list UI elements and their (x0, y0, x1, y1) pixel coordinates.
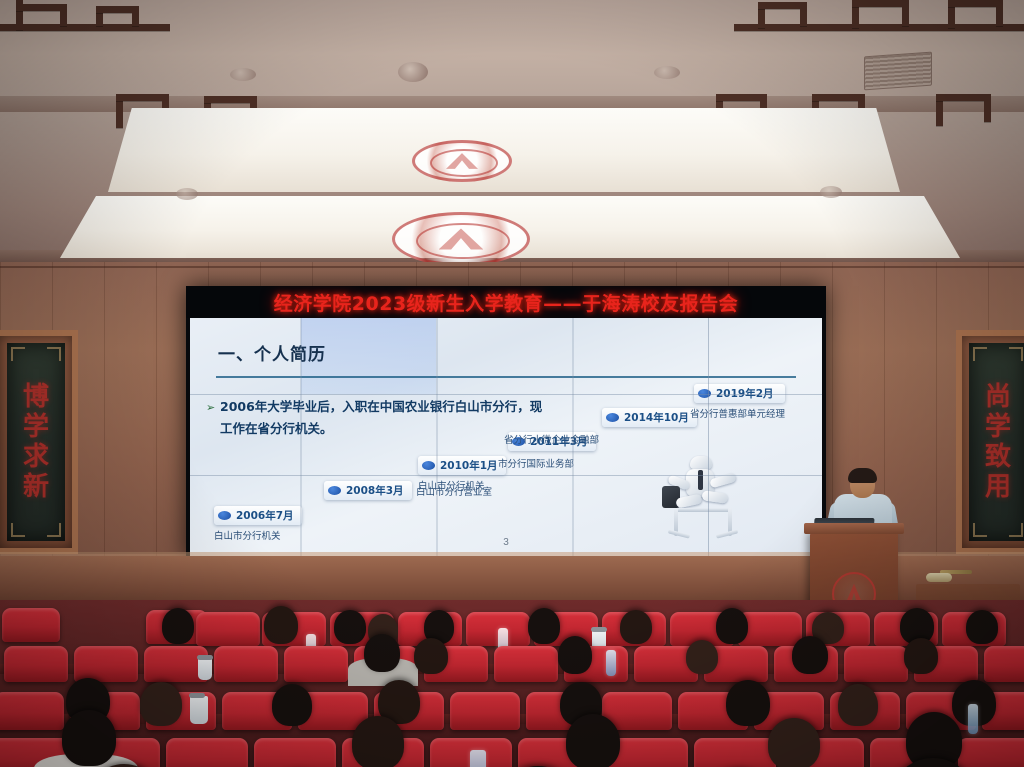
timeline-dot-icon (328, 486, 341, 495)
audience-head (528, 608, 560, 644)
audience-head (620, 610, 652, 644)
timeline-place: 省分行小微企业金融部 (504, 432, 599, 446)
slide-heading-rule (216, 376, 796, 378)
scroll-char: 学 (985, 414, 1011, 440)
led-video-wall[interactable]: 经济学院2023级新生入学教育——于海涛校友报告会 一、个人简历 ➢ 2006年… (186, 286, 826, 561)
businessman-hurdle-icon (660, 456, 746, 538)
timeline-dot-icon (218, 511, 231, 520)
timeline-dot-icon (698, 389, 711, 398)
ceiling-sprinkler (230, 68, 256, 81)
slide-bullet-text: ➢ 2006年大学毕业后，入职在中国农业银行白山市分行，现工作在省分行机关。 (220, 396, 550, 440)
seat (450, 692, 520, 730)
wall-scroll-right: 尚 学 致 用 (956, 330, 1024, 554)
timeline-place: 白山市分行机关 (418, 478, 506, 492)
desk-lamp-icon (926, 570, 972, 586)
timeline-chip: 2019年2月 (694, 384, 785, 403)
timeline-place: 省分行普惠部单元经理 (690, 406, 785, 420)
slide-heading: 一、个人简历 (218, 340, 326, 365)
timeline-date: 2010年1月 (440, 458, 498, 473)
timeline-chip: 2014年10月 (602, 408, 697, 427)
audience-head (414, 638, 448, 674)
drink-cup (198, 658, 212, 680)
scroll-char: 学 (23, 414, 49, 440)
water-bottle (968, 704, 978, 734)
presentation-slide[interactable]: 一、个人简历 ➢ 2006年大学毕业后，入职在中国农业银行白山市分行，现工作在省… (190, 318, 822, 556)
ceiling-sprinkler (654, 66, 680, 79)
scroll-char: 博 (23, 384, 49, 410)
ceiling-lattice-ornament (0, 0, 170, 34)
seat (284, 646, 348, 682)
presenter-hair (848, 468, 877, 483)
seat (494, 646, 558, 682)
seat (74, 646, 138, 682)
audience-head (716, 608, 748, 644)
scroll-char: 尚 (985, 384, 1011, 410)
seat (214, 646, 278, 682)
seat (196, 612, 260, 646)
slide-bullet-label: 2006年大学毕业后，入职在中国农业银行白山市分行，现工作在省分行机关。 (220, 399, 542, 436)
podium-top (804, 523, 904, 534)
timeline-node: 2008年3月 白山市分行营业室 (324, 481, 412, 500)
audience-head (558, 636, 592, 674)
water-bottle (470, 750, 486, 767)
audience-head (686, 640, 718, 674)
audience-head (364, 634, 400, 672)
audience-area (0, 600, 1024, 767)
audience-head (334, 610, 366, 644)
led-banner: 经济学院2023级新生入学教育——于海涛校友报告会 (186, 286, 826, 318)
timeline-date: 2014年10月 (624, 410, 689, 425)
scroll-char: 用 (985, 474, 1011, 500)
audience-head (904, 638, 938, 674)
audience-head (272, 684, 312, 726)
wall-seam (0, 266, 1024, 268)
seat (694, 738, 776, 767)
timeline-node: 2019年2月 省分行普惠部单元经理 (694, 384, 785, 420)
ceiling (0, 0, 1024, 300)
slide-page-number: 3 (190, 537, 822, 548)
scroll-char: 求 (23, 444, 49, 470)
timeline-chip: 2006年7月 (214, 506, 302, 525)
wall-scroll-left: 博 学 求 新 (0, 330, 78, 554)
audience-head (352, 716, 404, 767)
led-banner-text: 经济学院2023级新生入学教育——于海涛校友报告会 (274, 289, 738, 316)
ceiling-air-vent (864, 52, 932, 91)
ceiling-lattice-ornament (734, 0, 1024, 34)
seat (958, 738, 1024, 767)
audience-head (62, 710, 116, 766)
ceiling-crest-emblem (412, 140, 512, 182)
audience-head (768, 718, 820, 767)
audience-head (726, 680, 770, 726)
timeline-date: 2008年3月 (346, 483, 404, 498)
audience-head (792, 636, 828, 674)
seat (844, 646, 908, 682)
seat (254, 738, 336, 767)
auditorium-photo: 博 学 求 新 尚 学 致 用 经济学院2023级新生入学教育——于海涛校友报告… (0, 0, 1024, 767)
timeline-place: 市分行国际业务部 (498, 456, 574, 470)
audience-head (966, 610, 998, 644)
timeline-date: 2006年7月 (236, 508, 294, 523)
seat (166, 738, 248, 767)
timeline-chip: 2010年1月 (418, 456, 506, 475)
timeline-node: 2014年10月 省分行小微企业金融部 (602, 408, 697, 427)
ceiling-speaker-dome (398, 62, 428, 82)
ceiling-sprinkler (176, 188, 198, 200)
bullet-arrow-icon: ➢ (206, 397, 215, 419)
scroll-char: 致 (985, 444, 1011, 470)
water-bottle (606, 650, 616, 676)
timeline-node: 2010年1月 白山市分行机关 (418, 456, 506, 492)
audience-head (264, 606, 298, 644)
ceiling-crest-emblem (392, 212, 530, 266)
drink-cup (190, 696, 208, 724)
seat (2, 608, 60, 642)
timeline-date: 2019年2月 (716, 386, 774, 401)
audience-head (162, 608, 194, 644)
timeline-dot-icon (606, 413, 619, 422)
audience-head (566, 714, 620, 767)
timeline-chip: 2008年3月 (324, 481, 412, 500)
timeline-dot-icon (422, 461, 435, 470)
seat (0, 692, 64, 730)
seat (4, 646, 68, 682)
ceiling-sprinkler (820, 186, 842, 198)
seat (984, 646, 1024, 682)
scroll-char: 新 (23, 474, 49, 500)
audience-head (140, 682, 182, 726)
audience-head (838, 684, 878, 726)
